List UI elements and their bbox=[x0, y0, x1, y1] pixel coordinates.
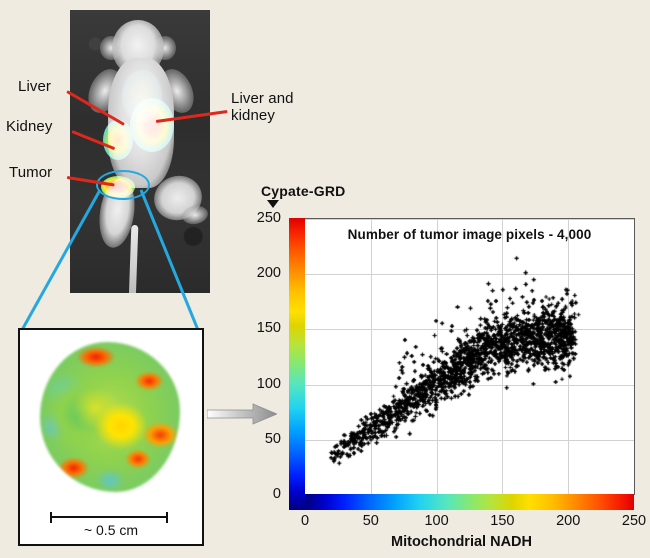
callout-label-tumor: Tumor bbox=[9, 164, 52, 181]
vertical-colorbar bbox=[289, 218, 305, 510]
x-tick-label: 0 bbox=[301, 513, 309, 529]
y-axis-ticks: 050100150200250 bbox=[245, 218, 285, 510]
callout-label-liver-and-kidney-line1: Liver and bbox=[231, 90, 294, 107]
callout-label-kidney: Kidney bbox=[6, 118, 52, 135]
x-axis-ticks: 050100150200250 bbox=[289, 513, 634, 533]
scatter-points bbox=[305, 219, 634, 495]
plot-title: Number of tumor image pixels - 4,000 bbox=[305, 227, 634, 242]
tumor-fluorescence-map bbox=[40, 342, 180, 492]
callout-label-liver-and-kidney-line2: kidney bbox=[231, 107, 294, 124]
x-axis-title: Mitochondrial NADH bbox=[289, 534, 634, 550]
y-axis-title-arrow-icon bbox=[267, 200, 279, 208]
callout-label-liver: Liver bbox=[18, 78, 51, 95]
mouse-fluorescence-photo bbox=[70, 10, 210, 293]
y-tick-label: 150 bbox=[257, 320, 281, 336]
y-tick-label: 250 bbox=[257, 210, 281, 226]
callout-label-liver-and-kidney: Liver and kidney bbox=[231, 90, 294, 124]
y-tick-label: 100 bbox=[257, 376, 281, 392]
x-tick-label: 200 bbox=[556, 513, 580, 529]
horizontal-colorbar bbox=[305, 494, 634, 510]
y-tick-label: 0 bbox=[273, 486, 281, 502]
scatter-plot: Number of tumor image pixels - 4,000 bbox=[289, 218, 634, 510]
y-tick-label: 200 bbox=[257, 265, 281, 281]
x-tick-label: 150 bbox=[490, 513, 514, 529]
gridline-vertical bbox=[634, 219, 635, 495]
x-tick-label: 250 bbox=[622, 513, 646, 529]
x-tick-label: 50 bbox=[363, 513, 379, 529]
fluorescence-spot-liver-kidney bbox=[130, 98, 174, 152]
scale-bar bbox=[50, 512, 168, 522]
tumor-inset-panel: ~ 0.5 cm bbox=[18, 328, 204, 546]
y-axis-title: Cypate-GRD bbox=[261, 183, 345, 199]
y-tick-label: 50 bbox=[265, 431, 281, 447]
scale-bar-line bbox=[50, 516, 168, 518]
x-tick-label: 100 bbox=[424, 513, 448, 529]
fluorescence-spot-kidney bbox=[103, 120, 133, 160]
plot-area: Number of tumor image pixels - 4,000 bbox=[305, 218, 635, 495]
scale-bar-label: ~ 0.5 cm bbox=[20, 522, 202, 538]
